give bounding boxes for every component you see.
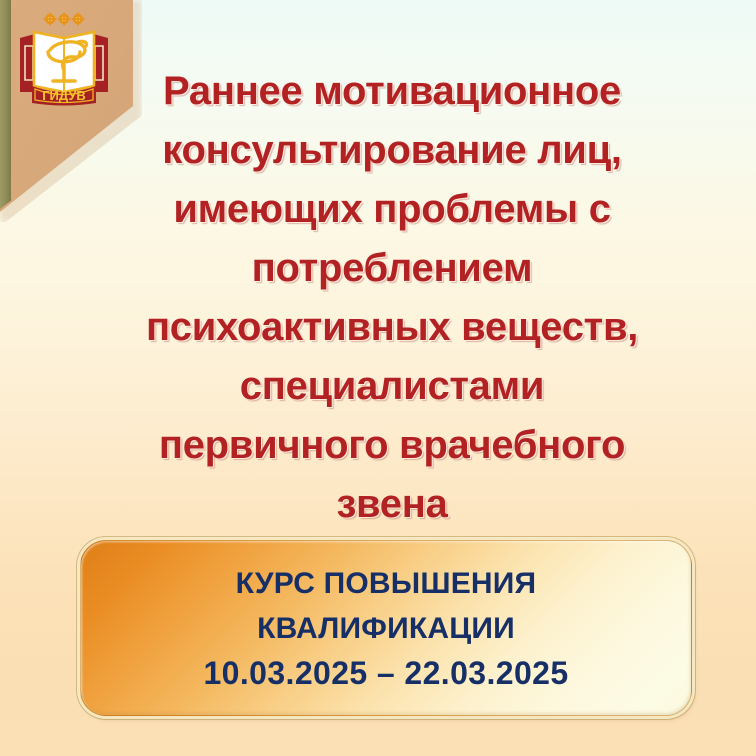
logo-banner-text: ГИДУВ (42, 88, 86, 103)
title-line-6: специалистами (104, 357, 680, 416)
course-label-line-2: КВАЛИФИКАЦИИ (257, 606, 515, 651)
title-line-1: Раннее мотивационное (104, 62, 680, 121)
page-title: Раннее мотивационное консультирование ли… (104, 62, 680, 534)
title-line-3: имеющих проблемы с (104, 180, 680, 239)
title-line-2: консультирование лиц, (104, 121, 680, 180)
title-line-5: психоактивных веществ, (104, 298, 680, 357)
title-line-7: первичного врачебного (104, 416, 680, 475)
poster-canvas: ГИДУВ Раннее мотивационное консультирова… (0, 0, 756, 756)
course-info-panel: КУРС ПОВЫШЕНИЯ КВАЛИФИКАЦИИ 10.03.2025 –… (80, 540, 692, 716)
star-rosettes (44, 13, 85, 26)
course-dates: 10.03.2025 – 22.03.2025 (203, 651, 568, 696)
corner-olive-stripe (0, 0, 11, 209)
course-label-line-1: КУРС ПОВЫШЕНИЯ (236, 561, 537, 606)
giduv-logo-icon: ГИДУВ (12, 8, 116, 108)
title-line-4: потреблением (104, 239, 680, 298)
title-line-8: звена (104, 475, 680, 534)
